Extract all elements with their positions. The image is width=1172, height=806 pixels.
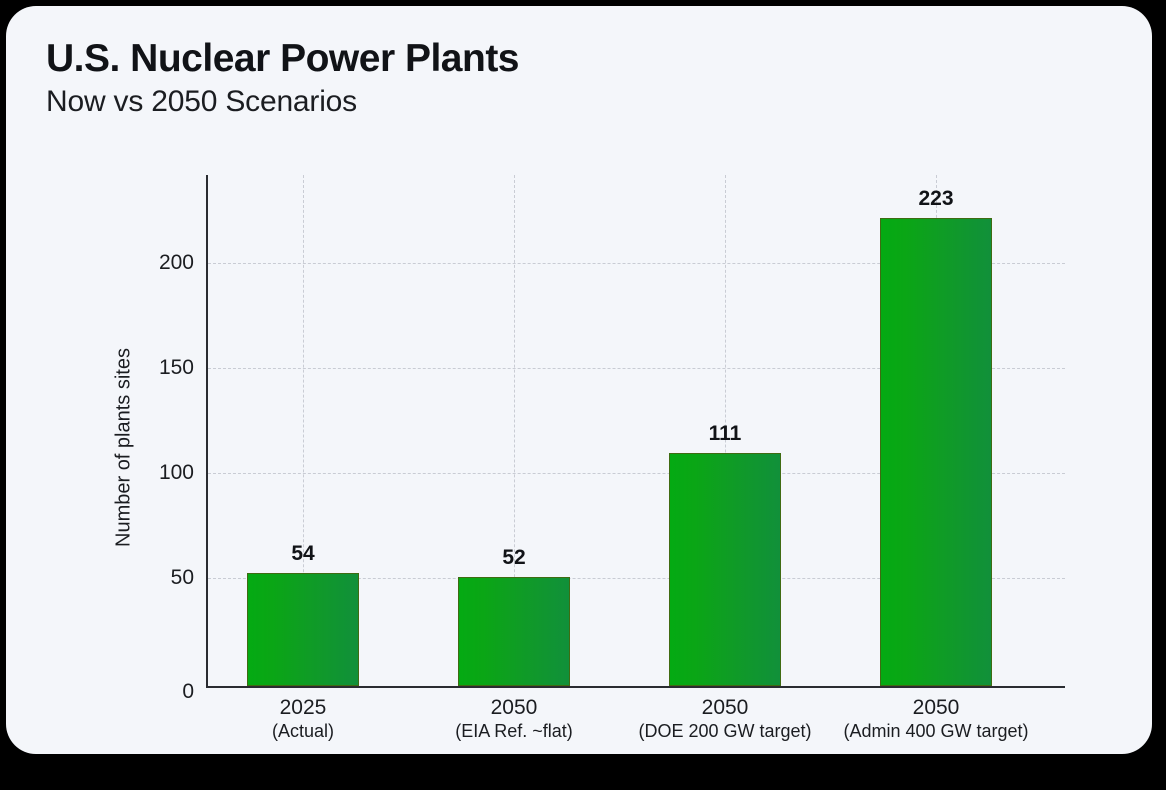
x-tick-year-3: 2050 [638,696,811,720]
bar-value-label-2: 52 [502,546,525,570]
y-tick-label-50: 50 [14,566,194,590]
x-tick-year-4: 2050 [843,696,1028,720]
chart-card: U.S. Nuclear Power Plants Now vs 2050 Sc… [6,6,1152,754]
bar-value-label-4: 223 [918,187,953,211]
y-axis-line [206,175,208,687]
y-tick-label-200: 200 [14,251,194,275]
x-tick-note-4: (Admin 400 GW target) [843,720,1028,743]
bar-2025-actual[interactable] [247,573,359,686]
x-tick-year-2: 2050 [455,696,573,720]
x-tick-year-1: 2025 [272,696,334,720]
bar-2050-doe-200gw[interactable] [669,453,781,686]
bar-value-label-3: 111 [709,422,742,446]
y-tick-label-150: 150 [14,356,194,380]
bar-2050-eia-ref[interactable] [458,577,570,686]
y-tick-label-0: 0 [14,680,194,704]
bar-2050-admin-400gw[interactable] [880,218,992,686]
x-tick-note-2: (EIA Ref. ~flat) [455,720,573,743]
x-axis-line [206,686,1065,688]
x-tick-label-4: 2050 (Admin 400 GW target) [843,696,1028,743]
x-tick-label-2: 2050 (EIA Ref. ~flat) [455,696,573,743]
y-tick-label-100: 100 [14,461,194,485]
bar-value-label-1: 54 [291,542,314,566]
x-tick-label-1: 2025 (Actual) [272,696,334,743]
x-tick-note-1: (Actual) [272,720,334,743]
outer-frame: U.S. Nuclear Power Plants Now vs 2050 Sc… [0,0,1166,790]
x-tick-note-3: (DOE 200 GW target) [638,720,811,743]
bar-chart-plot: Number of plants sites 0 50 100 150 200 [6,6,1152,754]
x-tick-label-3: 2050 (DOE 200 GW target) [638,696,811,743]
